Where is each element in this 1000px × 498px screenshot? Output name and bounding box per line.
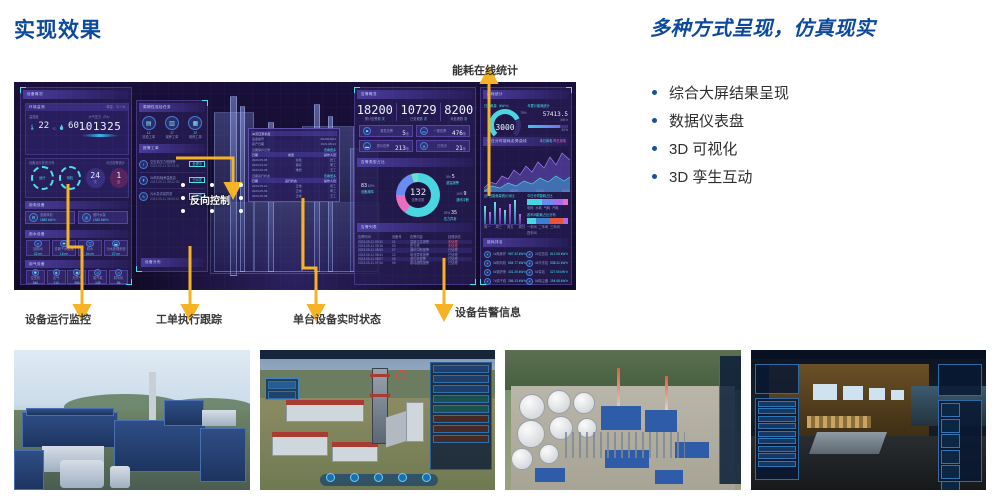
footer-title-text: 设备分布 [145,260,161,265]
plant-block [114,420,206,472]
kpi-value: 8200 [444,103,473,117]
x-tick: 16:00 [536,189,544,193]
nav-icon[interactable] [374,473,383,482]
cell: 2023-05-08 [252,158,267,162]
item-value: 213 [395,145,406,152]
item-time: 2023-05-11 08:05:11 [150,197,179,201]
plant-block [200,428,246,482]
donut-legend-item: 10% 9 通讯中断 [456,191,469,202]
humidity-icon: 💧 [59,125,65,131]
list-item[interactable]: ✺ 空压机 540 [26,270,45,284]
panel-alarm-overview[interactable]: 告警概览 18200 累计告警数 次 10729 已处理数 次 8200 未处理… [354,87,476,285]
device-list-header: 能耗排名 [483,238,569,247]
alarm-count: 24 [90,171,100,180]
temp-label: 温湿度 [29,114,75,119]
progress-value: 57413.5 [528,111,569,118]
handle-dot[interactable] [210,209,214,213]
item-name: 6#泵站 [535,270,548,274]
kpi-unit: 次 [382,117,385,121]
flow-icon: ∿ [139,192,148,201]
panel-energy[interactable]: 能耗统计 日能耗量（kW·h） 3000 kW·h 75% [480,87,572,285]
list-item[interactable]: ≈ 回用水 32 m³ [26,240,50,256]
donut-header: 告警类型占比 [357,158,473,167]
plant-block [14,450,44,490]
fan-icon: ⚙ [29,213,38,222]
workorder-cards: ▤ 12 巡检工单 ▥ 17 保养工单 ▦ 22 维修工单 [137,116,207,140]
x-tick: 08:00 [510,189,518,193]
item-value: 21 [456,145,463,152]
item-value: 64 m³ [86,252,94,256]
fault-count: 1 [116,171,121,180]
bullet-dot-icon [652,146,657,151]
area-chart-svg [484,148,570,192]
item-value: 327.90 kW·h [550,270,568,274]
slice-pct: 60% [368,184,374,188]
cell: 李工 [330,189,336,193]
item-unit: 条 [406,147,409,151]
list-item[interactable]: ▬ 提示告警 213条 [359,140,413,152]
item-unit: 条 [406,132,409,136]
thumbnail-refinery[interactable] [505,350,741,490]
item-name: 7#烘干线 [493,279,506,283]
donut-title-text: 告警类型占比 [361,160,385,165]
fault-unit: 起 [117,180,120,184]
list-item[interactable]: ⬓ 污水处理系统 27 m³ [104,240,128,256]
callout-energy-label: 能耗在线统计 [452,62,518,78]
progress-title: 年累计能耗统计 [528,104,569,108]
field-value: 2021-08-13 [321,142,336,146]
popup-title-text: 4#高压泵机组 [252,132,270,136]
list-title-text: 报警工单 [143,146,159,151]
pressure-label: 大气压力（Pa） [75,114,125,119]
device-icon: ⚡ [484,260,491,267]
panel-title-text: 能耗统计 [487,92,503,97]
item-value: 431.25 kW·h [508,270,526,274]
ratio-a-bar [527,199,568,205]
cell-status: 已处理 [448,261,472,265]
pallet-row [807,416,871,428]
panel-header: 告警概览 [357,90,473,99]
card-name: 巡检工单 [139,135,159,139]
energy-device-list[interactable]: ⚡ 1#熔炼炉 987.32 kW·h ⚡ 2#空压站 812.06 kW·h … [481,249,571,287]
bullet-dot-icon [652,174,657,179]
device-icon: ⚡ [526,251,533,258]
pump-icon: ◎ [82,213,91,222]
status-badge[interactable]: 已派发 [189,177,205,183]
item-name: 8#除尘器 [535,279,548,283]
panel-title-text: 告警概览 [361,92,377,97]
panel-top-right[interactable] [938,364,982,396]
kpi-value: 18200 [357,103,393,117]
cell: 正常 [296,184,302,188]
item-value: 18 m³ [60,252,68,256]
list-item[interactable]: ◎ 循环水泵 1320 kW·h [78,211,128,224]
alarm-table-header: 告警列表 [357,223,473,232]
warehouse-shape [60,460,104,488]
list-item[interactable]: ♨ 蒸汽机 128 [88,270,107,284]
left-panel[interactable] [265,378,299,400]
alarm-table[interactable]: 告警时间 设备号 告警内容 处理状态 2023-05-11 09:32 01 温… [355,234,475,266]
bullet-dot-icon [652,118,657,123]
panel-bottom-right[interactable] [938,400,982,482]
field-value: ZN4001001 [320,137,336,141]
alarm-donut-chart: 132 告警总数 83 60% 设备故障 5% 5 超温报警 10% 9 [355,169,475,221]
legend-item: 三车间 [550,225,560,229]
cell: 李工 [330,163,336,167]
notice-icon: ▬ [363,142,371,150]
list-item[interactable]: ○ 制氧机 96 [109,270,128,284]
feature-bullet-list: 综合大屏结果呈现 数据仪表盘 3D 可视化 3D 孪生互动 [652,78,992,190]
column-header: 操作人员 [324,179,336,183]
column-header: 运行状态 [285,179,297,183]
slice-pct: 10% [456,192,462,196]
item-name: 1#熔炼炉 [493,252,506,256]
section-note: 单位：℃ / % [106,105,125,109]
list-item[interactable]: ▽ 软水 64 m³ [78,240,102,256]
list-item[interactable]: ✕ 已关闭 21条 [416,140,470,152]
list-item[interactable]: ⚡ 8#除尘器 194.68 kW·h [526,277,568,286]
panel-title-text: 周期性巡检任务 [143,105,171,110]
list-item[interactable]: ⚙ 变频风机 1680 kW·h [25,211,75,224]
thumbnail-row [14,350,986,490]
tank-shape [110,466,130,488]
bar-chart [484,199,525,225]
slice-pct: 5% [446,175,451,179]
nav-icon[interactable] [326,473,335,482]
list-item: 3D 可视化 [652,134,992,162]
item-name: 已关闭 [437,144,447,148]
item-value: 32 m³ [34,252,42,256]
section-device-status: 设备运行状态分布 今日告警统计 运行 待机 24 次 1 [25,158,129,198]
panel-equipment-overview[interactable]: 设备概况 环境监测 单位：℃ / % 温湿度 🌡 22 ℃ 💧 [20,87,132,285]
bullet-dot-icon [652,90,657,95]
caption-device-alarm: 设备告警信息 [455,304,521,320]
column-header: 类型 [288,153,294,157]
list-item: 10729 已处理数 次 [401,103,437,121]
legend-item: 水耗 [535,206,541,210]
section-water-devices: 用水设备 ≈ 回用水 32 m³ ✚ 去离子水处理 18 m³ ▽ [25,230,129,258]
list-item[interactable]: ▤ 12 巡检工单 [139,116,159,140]
list-item: 数据仪表盘 [652,106,992,134]
bullet-label: 3D 孪生互动 [669,166,752,187]
cell: 巡检 [296,158,302,162]
cell: 王工 [330,168,336,172]
top-toolbar[interactable] [751,350,987,359]
handle-dot[interactable] [181,183,185,187]
item-name: 2#空压站 [535,252,548,256]
device-list-title: 能耗排名 [487,240,503,245]
alert-icon: ! [139,160,148,169]
thumbnail-warehouse-interior[interactable] [751,350,987,490]
bullet-label: 综合大屏结果呈现 [669,82,789,103]
item-time: 2023-05-11 09:15:02 [150,164,179,168]
item-name: 5#锅炉房 [493,270,506,274]
item-name: 一般告警 [434,129,447,133]
panel-header: 能耗统计 [483,90,569,99]
list-item[interactable]: ▭ 一般告警 476条 [416,125,470,137]
top-toolbar[interactable] [260,350,496,359]
cell: 振动超限报警 [410,261,446,265]
cell: 2023-05-09 [252,189,267,193]
area-chart: 00:00 08:00 16:00 24:00 [484,148,568,192]
donut-center-label: 告警总数 [412,198,425,202]
cell: 维修 [296,168,302,172]
card-name: 保养工单 [162,135,182,139]
handle-dot[interactable] [210,183,214,187]
item-unit: 条 [463,132,466,136]
panel-top-left[interactable] [755,364,799,394]
gauge-unit: kW·h [489,126,521,130]
cell: 正常 [296,189,302,193]
ring-gauge-running: 运行 [31,166,54,190]
cell: 2023-04-20 [252,163,267,167]
item-value: 128 [95,281,100,285]
progress-pct: 81% [528,128,569,132]
panel-header: 周期性巡检任务 [139,103,205,112]
item-name: 4#冷冻站 [535,261,548,265]
item-value: 812.06 kW·h [550,252,568,256]
cell: 2023-05-10 [252,184,267,188]
list-item[interactable]: ◈ 氮气 210 [47,270,66,284]
fault-count-bubble: 1 起 [110,168,129,188]
item-value: 386 [74,281,79,285]
handle-dot[interactable] [239,183,243,187]
field-label: 设备编号 [252,137,264,141]
legend-item: 一车间 [527,225,537,229]
kpi-value: 10729 [401,103,437,117]
item-value: 96 [117,281,121,285]
kpi-unit: 次 [464,117,467,121]
legend-item: 气耗 [544,206,550,210]
corner-decor-icon [354,87,360,93]
device-detail-popup[interactable]: 4#高压泵机组 设备编号 ZN4001001 投产日期 2021-08-13 近… [248,128,340,202]
column-header: 操作人员 [324,153,336,157]
list-item: 18200 累计告警数 次 [357,103,393,121]
ring-label: 待机 [67,176,73,180]
list-item[interactable]: ⚡ 7#烘干线 286.13 kW·h [484,277,526,286]
kpi-name: 未处理数 [450,117,463,121]
item-value: 987.32 kW·h [508,252,526,256]
legend-item: 电耗 [527,206,533,210]
table-row[interactable]: 2023-05-08 正常 王工 [251,193,337,198]
alarm-unit: 次 [94,180,97,184]
bullet-label: 3D 可视化 [669,138,737,159]
slice-value: 83 [361,183,367,189]
device-icon: ⚡ [484,269,491,276]
gauge-card: 日能耗量（kW·h） 3000 kW·h 75% [484,104,525,132]
temp-unit: ℃ [52,127,56,131]
caption-workorder: 工单执行跟踪 [156,311,222,327]
ratio-cards: 今日分项能耗占比 电耗 水耗 气耗 汽耗 各车间能耗占比分布 [527,194,568,236]
column-header: 日期 [252,179,258,183]
bar-chart-card: 近7日能耗量统计对比 周一 周三 周五 周日 [484,194,525,236]
cell: 2023-05-11 07:44 [358,261,390,265]
table-title-text: 告警列表 [361,225,377,230]
chimney-shape [149,372,156,424]
item-unit: 条 [463,147,466,151]
progress-unit: kW·h [528,118,569,122]
gauge-pct: 75% [520,111,526,115]
bar-chart-title: 近7日能耗量统计对比 [484,194,525,198]
side-panel[interactable] [719,356,741,484]
slide-page: 实现效果 多种方式呈现，仿真现实 综合大屏结果呈现 数据仪表盘 3D 可视化 3… [0,0,1000,498]
nav-icon[interactable] [422,473,431,482]
plant-block [22,412,118,448]
ring-gauge-standby: 待机 [59,166,82,190]
cell: 09 [392,261,408,265]
panel-bottom-left[interactable] [755,398,799,480]
temperature-icon: ↟ [139,176,148,185]
maintenance-icon: ▥ [165,116,179,130]
item-value: 540 [33,281,38,285]
item-value: 654.77 kW·h [508,261,526,265]
status-dist-label: 设备运行状态分布 [29,160,55,165]
item-value: 538.41 kW·h [550,261,568,265]
section-title: 近期保养记录 [252,148,270,152]
list-item[interactable]: ⚡ 4#冷冻站 538.41 kW·h [526,259,568,268]
list-item[interactable]: ▥ 17 保养工单 [162,116,182,140]
page-title-right: 多种方式呈现，仿真现实 [650,12,876,41]
alarm-kpis: 18200 累计告警数 次 10729 已处理数 次 8200 未处理数 次 [355,103,475,121]
handle-dot[interactable] [181,209,185,213]
nav-icon[interactable] [398,473,407,482]
device-icon: ⚡ [526,269,533,276]
item-name: 提示告警 [377,144,390,148]
thumbnail-3d-twin-ui[interactable] [260,350,496,490]
handle-dot[interactable] [239,209,243,213]
device-icon: ⚡ [526,260,533,267]
list-item[interactable]: ⚡ 6#泵站 327.90 kW·h [526,268,568,277]
view-more-link[interactable]: 查看更多 [324,148,336,152]
section-power-devices: 用电设备 ⚙ 变频风机 1680 kW·h ◎ 循环水泵 1 [25,201,129,227]
list-item: 8200 未处理数 次 [444,103,473,121]
panel-work-order[interactable]: 周期性巡检任务 ▤ 12 巡检工单 ▥ 17 保养工单 ▦ 22 维修工单 [136,100,208,272]
right-panel[interactable] [430,362,492,470]
item-value: 210 [54,281,59,285]
alarm-stat-label: 今日告警统计 [106,160,125,165]
list-item[interactable]: ! 空压机压力低报警 2023-05-11 09:15:02 处理中 [139,157,205,173]
section-title: 用气设备 [29,262,45,267]
table-row[interactable]: 2023-03-28 维修 王工 [251,167,337,172]
section-title: 近期运行状态 [252,174,270,178]
donut-legend-item: 25% 35 压力异常 [444,210,457,221]
dashboard-screenshot: 设备概况 环境监测 单位：℃ / % 温湿度 🌡 22 ℃ 💧 [14,82,576,290]
page-title-left: 实现效果 [14,14,102,44]
urgent-icon: ⚑ [363,127,371,135]
section-title: 用电设备 [29,203,45,208]
nav-icon[interactable] [350,473,359,482]
callout-reverse-control-label: 反向控制 [190,192,230,207]
corner-decor-icon [202,100,208,106]
corner-decor-icon [470,279,476,285]
donut-legend-item: 83 60% 设备故障 [361,183,374,194]
list-item[interactable]: ⚡ 2#空压站 812.06 kW·h [526,250,568,259]
item-value: 194.68 kW·h [550,279,568,283]
energy-mid-row: 近7日能耗量统计对比 周一 周三 周五 周日 今日分项能 [481,194,571,236]
forest-bg [505,350,741,390]
list-item: 3D 孪生互动 [652,162,992,190]
plant-block [164,400,204,426]
legend-item: 四车间 [527,231,537,235]
handle-dot[interactable] [181,196,185,200]
cell: 张工 [330,184,336,188]
item-name: 3#制氧机 [493,261,506,265]
ratio-b-bar [527,218,568,224]
section-title: 用水设备 [29,232,45,237]
item-value: 286.13 kW·h [508,279,526,283]
corner-decor-icon [20,87,26,93]
list-item[interactable]: ◉ 天然气 386 [67,270,86,284]
table-row[interactable]: 2023-05-11 07:44 09 振动超限报警 已处理 [358,261,472,265]
slice-name: 通讯中断 [456,198,469,202]
slice-pct: 25% [444,211,450,215]
panel-title-text: 设备概况 [27,92,43,97]
list-item[interactable]: ↟ 3#风机轴承温度高 2023-05-11 08:42:30 已派发 [139,173,205,189]
kpi-name: 已处理数 [410,117,423,121]
list-item[interactable]: ⚑ 紧急告警 5条 [359,125,413,137]
item-value: 1320 kW·h [93,218,108,222]
legend-item: 本日用电 [540,139,553,143]
device-icon: ⚡ [484,251,491,258]
x-tick: 周五 [507,225,513,229]
item-value: 476 [452,130,463,137]
list-header: 报警工单 [139,144,205,153]
list-item[interactable]: ⚡ 3#制氧机 654.77 kW·h [484,259,526,268]
progress-card: 年累计能耗统计 57413.5 kW·h 81% [528,104,569,132]
list-item[interactable]: ✚ 去离子水处理 18 m³ [52,240,76,256]
bullet-label: 数据仪表盘 [669,110,744,131]
handle-dot[interactable] [239,196,243,200]
list-item[interactable]: ⚡ 1#熔炼炉 987.32 kW·h [484,250,526,259]
alarm-type-boxes: ⚑ 紧急告警 5条 ▭ 一般告警 476条 ▬ 提示告警 213条 ✕ 已关闭 [355,121,475,156]
panel-header: 设备概况 [23,90,129,99]
x-tick: 24:00 [562,189,570,193]
cell: 2023-05-08 [252,194,267,198]
slice-value: 9 [464,191,467,197]
caption-device-monitor: 设备运行监控 [25,311,91,327]
thermometer-icon: 🌡 [29,125,35,131]
item-value: 1680 kW·h [40,218,55,222]
closed-icon: ✕ [420,142,428,150]
building-shape [202,410,236,426]
device-icon: ⚡ [526,278,533,285]
section-gas-devices: 用气设备 ✺ 空压机 540 ◈ 氮气 210 ◉ 天然气 [25,260,129,284]
legend-item: 昨日用电 [553,139,566,143]
thumbnail-plant-overview[interactable] [14,350,250,490]
list-item[interactable]: ▦ 22 维修工单 [185,116,205,140]
donut-legend-item: 5% 5 超温报警 [446,174,459,185]
temp-value: 22 [38,121,49,131]
energy-top-row: 日能耗量（kW·h） 3000 kW·h 75% 年累计能耗统计 57413.5 [481,101,571,135]
view-more-link[interactable]: 查看更多 [324,174,336,178]
field-label: 投产日期 [252,142,264,146]
panel-footer: 设备分布 [141,258,203,267]
caption-device-status: 单台设备实时状态 [293,311,381,327]
legend-item: 汽耗 [552,206,558,210]
status-badge[interactable]: 处理中 [189,161,205,167]
x-tick: 周一 [484,225,490,229]
alarm-count-bubble: 24 次 [86,168,105,188]
section-environment: 环境监测 单位：℃ / % 温湿度 🌡 22 ℃ 💧 60 %RH [25,103,129,155]
cell: 保养 [296,163,302,167]
ramp-shape [808,432,886,454]
cell: 正常 [296,194,302,198]
plant-block [26,408,114,416]
general-icon: ▭ [420,127,428,135]
item-time: 2023-05-11 08:42:30 [150,180,179,184]
corner-decor-icon [480,279,486,285]
list-item[interactable]: ⚡ 5#锅炉房 431.25 kW·h [484,268,526,277]
